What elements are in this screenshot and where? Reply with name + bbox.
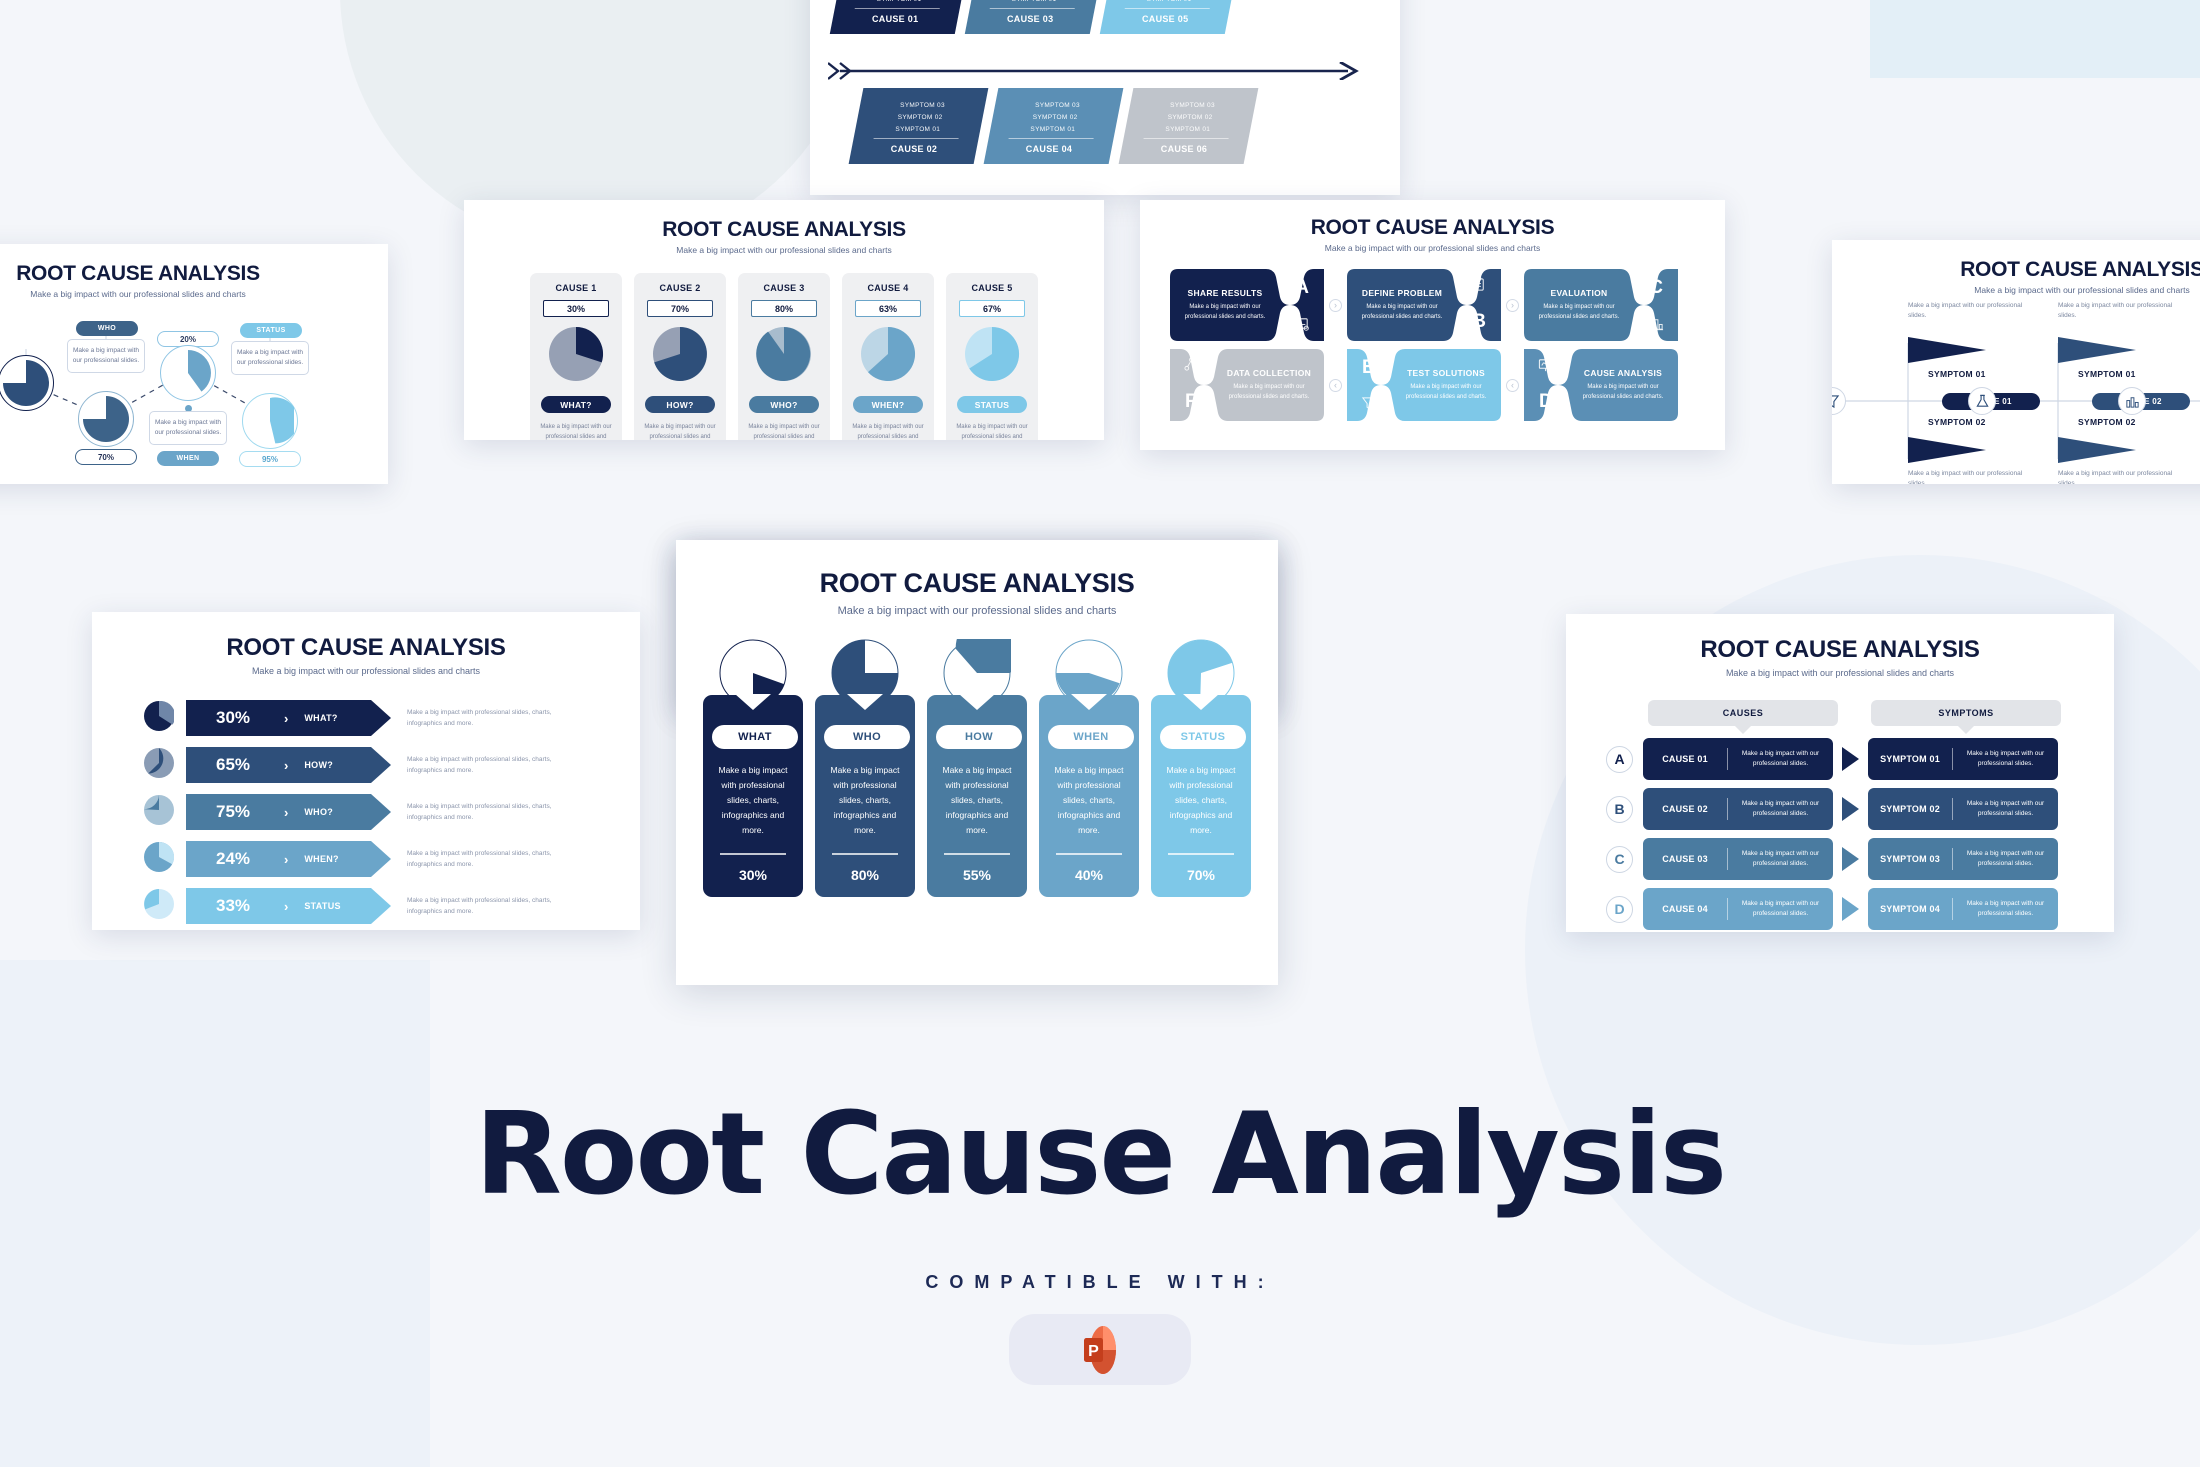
divider	[1144, 138, 1229, 139]
bar-pie-chart	[144, 889, 174, 924]
cause-card[interactable]: CAUSE 2 70% HOW? Make a big impact with …	[634, 273, 726, 440]
zigzag-value-who: 70%	[75, 449, 137, 465]
h-block-cause-analysis[interactable]: CAUSE ANALYSIS Make a big impact with ou…	[1524, 349, 1678, 421]
cause-value: 70%	[647, 300, 713, 317]
bar-label: STATUS	[304, 901, 340, 911]
cause-card[interactable]: CAUSE 3 80% WHO? Make a big impact with …	[738, 273, 830, 440]
arrow-bar-row[interactable]: 65% › HOW? Make a big impact with profes…	[144, 747, 640, 783]
chevron-left-icon: ‹	[1329, 379, 1342, 392]
slide-arrow-bars[interactable]: ROOT CAUSE ANALYSIS Make a big impact wi…	[92, 612, 640, 930]
news-icon	[1295, 316, 1310, 331]
h-block-body: Make a big impact with our professional …	[1399, 383, 1493, 402]
h-block-data-collection[interactable]: DATA COLLECTION Make a big impact with o…	[1170, 349, 1324, 421]
divider	[990, 8, 1075, 9]
fishbone-bottom-row: SYMPTOM 03 SYMPTOM 02 SYMPTOM 01 CAUSE 0…	[856, 88, 1251, 164]
slide-cause-symptom-table[interactable]: ROOT CAUSE ANALYSIS Make a big impact wi…	[1566, 614, 2114, 932]
cause-heading: CAUSE 3	[745, 283, 823, 293]
row-letter: D	[1606, 896, 1633, 923]
bar-percent: 65%	[216, 755, 268, 775]
zigzag-pie-when	[160, 345, 216, 401]
h-block-title: DEFINE PROBLEM	[1355, 288, 1449, 299]
powerpoint-badge[interactable]: P	[1009, 1314, 1191, 1385]
chevron-right-icon: ›	[284, 852, 288, 867]
fishbone-symptom: SYMPTOM 01	[996, 126, 1109, 133]
slide-cause-pies[interactable]: ROOT CAUSE ANALYSIS Make a big impact wi…	[464, 200, 1104, 440]
page-subtitle: Make a big impact with our professional …	[676, 605, 1278, 617]
flag-note-bottom: Make a big impact with our professional …	[1908, 469, 2028, 484]
flag-triangle-bottom	[2058, 437, 2136, 463]
divider	[855, 8, 940, 9]
h-block-define-problem[interactable]: DEFINE PROBLEM Make a big impact with ou…	[1347, 269, 1501, 341]
fishbone-symptom: SYMPTOM 01	[861, 126, 974, 133]
notch	[959, 694, 995, 710]
center-percent: 30%	[712, 867, 794, 883]
center-card[interactable]: HOW Make a big impact with professional …	[927, 695, 1027, 897]
zigzag-value-status: 95%	[239, 451, 301, 467]
fishbone-symptom: SYMPTOM 03	[1001, 102, 1114, 109]
cause-name: CAUSE 02	[1643, 804, 1727, 814]
h-block-body: Make a big impact with our professional …	[1532, 303, 1626, 322]
cause-pie-chart	[641, 326, 719, 387]
h-block-test-solutions[interactable]: TEST SOLUTIONS Make a big impact with ou…	[1347, 349, 1501, 421]
slide-flags[interactable]: ROOT CAUSE ANALYSIS Make a big impact wi…	[1832, 240, 2200, 484]
center-body: Make a big impact with professional slid…	[712, 763, 794, 837]
center-percent: 80%	[824, 867, 906, 883]
arrow-bar-list: 30% › WHAT? Make a big impact with profe…	[92, 700, 640, 924]
slide-fishbone[interactable]: SYMPTOM 02 SYMPTOM 01 CAUSE 01 SYMPTOM 0…	[810, 0, 1400, 195]
h-block-letter: C	[1649, 277, 1663, 299]
bar-percent: 75%	[216, 802, 268, 822]
page-subtitle: Make a big impact with our professional …	[464, 245, 1104, 255]
center-card[interactable]: WHEN Make a big impact with professional…	[1039, 695, 1139, 897]
cause-card[interactable]: CAUSE 1 30% WHAT? Make a big impact with…	[530, 273, 622, 440]
cause-value: 30%	[543, 300, 609, 317]
flag-node	[2118, 387, 2146, 415]
bar-percent: 30%	[216, 708, 268, 728]
notch	[735, 694, 771, 710]
cause-button[interactable]: HOW?	[645, 396, 715, 413]
cause-card-list: CAUSE 1 30% WHAT? Make a big impact with…	[464, 273, 1104, 440]
cause-note: Make a big impact with our professional …	[1728, 749, 1833, 770]
fishbone-cause: CAUSE 06	[1128, 144, 1241, 154]
cause-button[interactable]: STATUS	[957, 396, 1027, 413]
flag-symptom-bottom: SYMPTOM 02	[2078, 417, 2136, 427]
center-label[interactable]: STATUS	[1160, 725, 1246, 749]
arrow-bar-row[interactable]: 33% › STATUS Make a big impact with prof…	[144, 888, 640, 924]
powerpoint-icon: P	[1077, 1325, 1123, 1375]
bar-label: WHAT?	[304, 713, 337, 723]
h-block-letter: D	[1539, 391, 1553, 413]
zigzag-pie-who	[78, 391, 134, 447]
zigzag-diagram: 75% Make a big impact with our professio…	[0, 305, 388, 465]
divider	[720, 853, 786, 854]
clipboard-icon	[1472, 277, 1487, 292]
fishbone-card[interactable]: SYMPTOM 02 SYMPTOM 01 CAUSE 05	[1100, 0, 1237, 34]
cause-note: Make a big impact with our professional …	[849, 422, 927, 440]
page-subtitle: Make a big impact with our professional …	[0, 289, 388, 299]
h-block-title: TEST SOLUTIONS	[1399, 368, 1493, 379]
symptom-name: SYMPTOM 03	[1868, 854, 1952, 864]
h-block-title: CAUSE ANALYSIS	[1576, 368, 1670, 379]
bar-note: Make a big impact with professional slid…	[407, 707, 582, 729]
fishbone-symptom: SYMPTOM 01	[1112, 0, 1225, 3]
slide-center-card[interactable]: ROOT CAUSE ANALYSIS Make a big impact wi…	[676, 540, 1278, 985]
divider	[1056, 853, 1122, 854]
cause-note: Make a big impact with our professional …	[537, 422, 615, 440]
fishbone-card[interactable]: SYMPTOM 03 SYMPTOM 02 SYMPTOM 01 CAUSE 0…	[1119, 88, 1259, 164]
fishbone-symptom: SYMPTOM 02	[864, 114, 977, 121]
center-card[interactable]: STATUS Make a big impact with profession…	[1151, 695, 1251, 897]
flags-diagram: Make a big impact with our professional …	[1832, 309, 2200, 479]
fishbone-top-row: SYMPTOM 02 SYMPTOM 01 CAUSE 01 SYMPTOM 0…	[836, 0, 1231, 34]
symptom-cell[interactable]: SYMPTOM 03 Make a big impact with our pr…	[1868, 838, 2058, 880]
cause-cell[interactable]: CAUSE 01 Make a big impact with our prof…	[1643, 738, 1833, 780]
bar-pie-chart	[144, 701, 174, 736]
row-letter: C	[1606, 846, 1633, 873]
chart-icon	[2125, 394, 2140, 409]
symptom-note: Make a big impact with our professional …	[1953, 849, 2058, 870]
cause-note: Make a big impact with our professional …	[1728, 899, 1833, 920]
column-header-causes: CAUSES	[1648, 700, 1838, 726]
cause-card[interactable]: CAUSE 4 63% WHEN? Make a big impact with…	[842, 273, 934, 440]
page-subtitle: Make a big impact with our professional …	[1140, 243, 1725, 253]
cause-button[interactable]: WHO?	[749, 396, 819, 413]
arrow-bar[interactable]: 24% › WHEN?	[186, 841, 391, 877]
cause-value: 80%	[751, 300, 817, 317]
divider	[832, 853, 898, 854]
h-block-evaluation[interactable]: EVALUATION Make a big impact with our pr…	[1524, 269, 1678, 341]
divider	[1125, 8, 1210, 9]
chevron-right-icon: ›	[284, 711, 288, 726]
fishbone-symptom: SYMPTOM 01	[1131, 126, 1244, 133]
cause-pie-chart	[537, 326, 615, 387]
funnel-icon	[1361, 396, 1376, 411]
flag-symptom-top: SYMPTOM 01	[2078, 369, 2136, 379]
cause-button[interactable]: WHEN?	[853, 396, 923, 413]
h-block-title: EVALUATION	[1532, 288, 1626, 299]
symptom-note: Make a big impact with our professional …	[1953, 899, 2058, 920]
page-subtitle: Make a big impact with our professional …	[1566, 668, 2114, 678]
cause-note: Make a big impact with our professional …	[641, 422, 719, 440]
cause-cell[interactable]: CAUSE 02 Make a big impact with our prof…	[1643, 788, 1833, 830]
arrow-bar[interactable]: 75% › WHO?	[186, 794, 391, 830]
fishbone-cause: CAUSE 04	[993, 144, 1106, 154]
cause-heading: CAUSE 4	[849, 283, 927, 293]
fishbone-cause: CAUSE 03	[974, 14, 1087, 24]
row-letter: B	[1606, 796, 1633, 823]
fishbone-symptom: SYMPTOM 01	[842, 0, 955, 3]
zigzag-note-who: Make a big impact with our professional …	[67, 339, 145, 373]
cause-note: Make a big impact with our professional …	[953, 422, 1031, 440]
hero-title: Root Cause Analysis	[0, 1098, 2200, 1211]
fishbone-symptom: SYMPTOM 02	[999, 114, 1112, 121]
notch	[847, 694, 883, 710]
notch	[1183, 694, 1219, 710]
bar-note: Make a big impact with professional slid…	[407, 848, 582, 870]
fishbone-cause: CAUSE 01	[839, 14, 952, 24]
fishbone-symptom: SYMPTOM 02	[1134, 114, 1247, 121]
page-title: ROOT CAUSE ANALYSIS	[676, 568, 1278, 599]
bar-label: HOW?	[304, 760, 333, 770]
fishbone-card[interactable]: SYMPTOM 03 SYMPTOM 02 SYMPTOM 01 CAUSE 0…	[984, 88, 1124, 164]
symptom-name: SYMPTOM 04	[1868, 904, 1952, 914]
slide-h-process[interactable]: ROOT CAUSE ANALYSIS Make a big impact wi…	[1140, 200, 1725, 450]
flask-icon	[1975, 394, 1990, 409]
slide-zigzag[interactable]: ROOT CAUSE ANALYSIS Make a big impact wi…	[0, 244, 388, 484]
cause-pie-chart	[953, 326, 1031, 387]
h-process-grid: SHARE RESULTS Make a big impact with our…	[1140, 269, 1725, 421]
h-block-body: Make a big impact with our professional …	[1178, 303, 1272, 322]
center-body: Make a big impact with professional slid…	[824, 763, 906, 837]
center-column-what[interactable]: WHAT Make a big impact with professional…	[703, 639, 803, 897]
center-label[interactable]: WHAT	[712, 725, 798, 749]
center-column-how[interactable]: HOW Make a big impact with professional …	[927, 639, 1027, 897]
arrow-bar-row[interactable]: 24% › WHEN? Make a big impact with profe…	[144, 841, 640, 877]
table-body: A CAUSE 01 Make a big impact with our pr…	[1566, 738, 2114, 930]
bar-label: WHEN?	[304, 854, 339, 864]
symptom-note: Make a big impact with our professional …	[1953, 749, 2058, 770]
arrow-bar-row[interactable]: 75% › WHO? Make a big impact with profes…	[144, 794, 640, 830]
h-block-title: SHARE RESULTS	[1178, 288, 1272, 299]
chevron-right-icon: ›	[284, 758, 288, 773]
flag-triangle-top	[2058, 337, 2136, 363]
center-label[interactable]: HOW	[936, 725, 1022, 749]
cause-value: 67%	[959, 300, 1025, 317]
bar-note: Make a big impact with professional slid…	[407, 895, 582, 917]
fishbone-symptom: SYMPTOM 03	[866, 102, 979, 109]
arrow-bar[interactable]: 33% › STATUS	[186, 888, 391, 924]
fishbone-symptom: SYMPTOM 03	[1136, 102, 1249, 109]
h-row-top: SHARE RESULTS Make a big impact with our…	[1170, 269, 1695, 341]
zigzag-note-when: Make a big impact with our professional …	[149, 411, 227, 445]
cause-name: CAUSE 03	[1643, 854, 1727, 864]
h-block-letter: B	[1472, 311, 1486, 333]
zigzag-label-who[interactable]: WHO	[76, 321, 138, 336]
chevron-right-icon: ›	[1329, 299, 1342, 312]
row-letter: A	[1606, 746, 1633, 773]
cause-heading: CAUSE 2	[641, 283, 719, 293]
flag-note-top: Make a big impact with our professional …	[1908, 301, 2028, 322]
page-subtitle: Make a big impact with our professional …	[1832, 285, 2200, 295]
bar-pie-chart	[144, 748, 174, 783]
cause-note: Make a big impact with our professional …	[1728, 849, 1833, 870]
h-block-letter: A	[1295, 277, 1309, 299]
cause-heading: CAUSE 5	[953, 283, 1031, 293]
bar-percent: 33%	[216, 896, 268, 916]
cause-pie-chart	[745, 326, 823, 387]
symptom-name: SYMPTOM 01	[1868, 754, 1952, 764]
fishbone-card[interactable]: SYMPTOM 02 SYMPTOM 01 CAUSE 03	[965, 0, 1102, 34]
h-block-body: Make a big impact with our professional …	[1576, 383, 1670, 402]
symptom-note: Make a big impact with our professional …	[1953, 799, 2058, 820]
center-percent: 40%	[1048, 867, 1130, 883]
notch	[1071, 694, 1107, 710]
bar-note: Make a big impact with professional slid…	[407, 754, 582, 776]
cause-value: 63%	[855, 300, 921, 317]
center-label[interactable]: WHO	[824, 725, 910, 749]
center-percent: 70%	[1160, 867, 1242, 883]
fishbone-card[interactable]: SYMPTOM 03 SYMPTOM 02 SYMPTOM 01 CAUSE 0…	[849, 88, 989, 164]
divider	[944, 853, 1010, 854]
fishbone-cause: CAUSE 05	[1109, 14, 1222, 24]
bar-percent: 24%	[216, 849, 268, 869]
chart-icon	[1649, 316, 1664, 331]
page-title: ROOT CAUSE ANALYSIS	[92, 634, 640, 662]
center-label[interactable]: WHEN	[1048, 725, 1134, 749]
h-block-title: DATA COLLECTION	[1222, 368, 1316, 379]
cause-name: CAUSE 04	[1643, 904, 1727, 914]
column-header-symptoms: SYMPTOMS	[1871, 700, 2061, 726]
divider	[1168, 853, 1234, 854]
chevron-right-icon: ›	[284, 899, 288, 914]
cause-note: Make a big impact with our professional …	[1728, 799, 1833, 820]
divider	[874, 138, 959, 139]
flag-node	[1968, 387, 1996, 415]
table-row[interactable]: B CAUSE 02 Make a big impact with our pr…	[1606, 788, 2114, 830]
cause-name: CAUSE 01	[1643, 754, 1727, 764]
fishbone-cause: CAUSE 02	[858, 144, 971, 154]
bar-pie-chart	[144, 795, 174, 830]
funnel-icon	[1832, 394, 1840, 409]
flag-symptom-bottom: SYMPTOM 02	[1928, 417, 1986, 427]
chevron-right-icon: ›	[1506, 299, 1519, 312]
center-body: Make a big impact with professional slid…	[936, 763, 1018, 837]
zigzag-label-when[interactable]: WHEN	[157, 451, 219, 466]
symptom-name: SYMPTOM 02	[1868, 804, 1952, 814]
svg-text:P: P	[1088, 1343, 1099, 1360]
h-block-share-results[interactable]: SHARE RESULTS Make a big impact with our…	[1170, 269, 1324, 341]
background-rect-top-right	[1870, 0, 2200, 78]
cause-pie-chart	[849, 326, 927, 387]
symptom-cell[interactable]: SYMPTOM 04 Make a big impact with our pr…	[1868, 888, 2058, 930]
divider	[1009, 138, 1094, 139]
center-card[interactable]: WHAT Make a big impact with professional…	[703, 695, 803, 897]
flag-triangle-bottom	[1908, 437, 1986, 463]
center-column-list: WHAT Make a big impact with professional…	[676, 639, 1278, 897]
center-column-when[interactable]: WHEN Make a big impact with professional…	[1039, 639, 1139, 897]
compatible-label: COMPATIBLE WITH:	[0, 1272, 2200, 1293]
chevron-left-icon: ‹	[1506, 379, 1519, 392]
table-row[interactable]: D CAUSE 04 Make a big impact with our pr…	[1606, 888, 2114, 930]
table-row[interactable]: C CAUSE 03 Make a big impact with our pr…	[1606, 838, 2114, 880]
cause-heading: CAUSE 1	[537, 283, 615, 293]
center-column-status[interactable]: STATUS Make a big impact with profession…	[1151, 639, 1251, 897]
fishbone-axis-arrow	[828, 62, 1368, 80]
bar-note: Make a big impact with professional slid…	[407, 801, 582, 823]
page-title: ROOT CAUSE ANALYSIS	[0, 262, 388, 286]
cause-card[interactable]: CAUSE 5 67% STATUS Make a big impact wit…	[946, 273, 1038, 440]
arrow-right-icon	[1842, 847, 1859, 871]
center-card[interactable]: WHO Make a big impact with professional …	[815, 695, 915, 897]
h-row-bottom: DATA COLLECTION Make a big impact with o…	[1170, 349, 1695, 421]
arrow-right-icon	[1842, 747, 1859, 771]
h-block-body: Make a big impact with our professional …	[1222, 383, 1316, 402]
arrow-right-icon	[1842, 797, 1859, 821]
table-row[interactable]: A CAUSE 01 Make a big impact with our pr…	[1606, 738, 2114, 780]
cause-note: Make a big impact with our professional …	[745, 422, 823, 440]
center-body: Make a big impact with professional slid…	[1048, 763, 1130, 837]
center-column-who[interactable]: WHO Make a big impact with professional …	[815, 639, 915, 897]
arrow-bar-row[interactable]: 30% › WHAT? Make a big impact with profe…	[144, 700, 640, 736]
cause-cell[interactable]: CAUSE 03 Make a big impact with our prof…	[1643, 838, 1833, 880]
fishbone-card[interactable]: SYMPTOM 02 SYMPTOM 01 CAUSE 01	[830, 0, 967, 34]
arrow-bar[interactable]: 65% › HOW?	[186, 747, 391, 783]
symptom-cell[interactable]: SYMPTOM 01 Make a big impact with our pr…	[1868, 738, 2058, 780]
page-title: ROOT CAUSE ANALYSIS	[1832, 258, 2200, 282]
bar-pie-chart	[144, 842, 174, 877]
zigzag-label-status[interactable]: STATUS	[240, 323, 302, 338]
fishbone-symptom: SYMPTOM 01	[977, 0, 1090, 3]
chevron-right-icon: ›	[284, 805, 288, 820]
table-headers: CAUSES SYMPTOMS	[1648, 700, 2114, 726]
page-title: ROOT CAUSE ANALYSIS	[1140, 216, 1725, 240]
center-percent: 55%	[936, 867, 1018, 883]
arrow-bar[interactable]: 30% › WHAT?	[186, 700, 391, 736]
center-body: Make a big impact with professional slid…	[1160, 763, 1242, 837]
flag-symptom-top: SYMPTOM 01	[1928, 369, 1986, 379]
zigzag-note-status: Make a big impact with our professional …	[231, 341, 309, 375]
cause-button[interactable]: WHAT?	[541, 396, 611, 413]
present-icon	[1538, 357, 1553, 372]
h-block-letter: F	[1185, 391, 1197, 413]
zigzag-pie-status	[242, 393, 298, 449]
page-title: ROOT CAUSE ANALYSIS	[464, 218, 1104, 242]
background-strip-bottom-left	[0, 960, 430, 1467]
arrow-right-icon	[1842, 897, 1859, 921]
bar-label: WHO?	[304, 807, 333, 817]
flag-triangle-top	[1908, 337, 1986, 363]
symptom-cell[interactable]: SYMPTOM 02 Make a big impact with our pr…	[1868, 788, 2058, 830]
h-block-letter: E	[1362, 357, 1375, 379]
page-title: ROOT CAUSE ANALYSIS	[1566, 636, 2114, 664]
flag-note-top: Make a big impact with our professional …	[2058, 301, 2178, 322]
flag-note-bottom: Make a big impact with our professional …	[2058, 469, 2178, 484]
page-subtitle: Make a big impact with our professional …	[92, 666, 640, 676]
cause-cell[interactable]: CAUSE 04 Make a big impact with our prof…	[1643, 888, 1833, 930]
h-block-body: Make a big impact with our professional …	[1355, 303, 1449, 322]
network-icon	[1184, 357, 1199, 372]
zigzag-pie-how	[0, 355, 54, 411]
